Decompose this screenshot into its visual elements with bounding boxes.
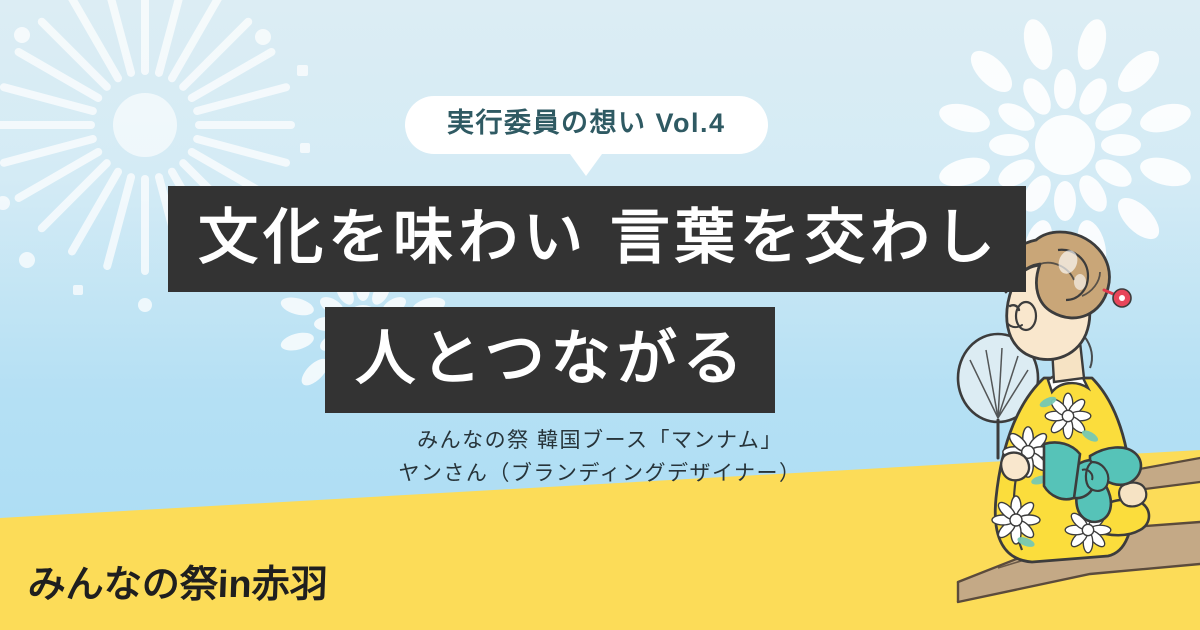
headline-block: 文化を味わい 言葉を交わし 人とつながる (0, 186, 1200, 413)
event-logo-label: みんなの祭in赤羽 (27, 553, 329, 608)
speech-bubble-tail-icon (570, 154, 602, 176)
headline-line-2: 人とつながる (325, 307, 775, 413)
subtitle-line-1: みんなの祭 韓国ブース「マンナム」 (0, 424, 1200, 457)
volume-badge-label: 実行委員の想い Vol.4 (447, 108, 726, 138)
subtitle-block: みんなの祭 韓国ブース「マンナム」 ヤンさん（ブランディングデザイナー） (0, 424, 1200, 490)
volume-badge-pill: 実行委員の想い Vol.4 (405, 96, 768, 154)
event-logo: みんなの祭in赤羽 (28, 553, 328, 608)
volume-badge: 実行委員の想い Vol.4 (405, 96, 768, 154)
promotional-banner: 実行委員の想い Vol.4 文化を味わい 言葉を交わし 人とつながる みんなの祭… (0, 0, 1200, 630)
subtitle-line-2: ヤンさん（ブランディングデザイナー） (0, 457, 1200, 490)
headline-line-1: 文化を味わい 言葉を交わし (168, 186, 1026, 292)
